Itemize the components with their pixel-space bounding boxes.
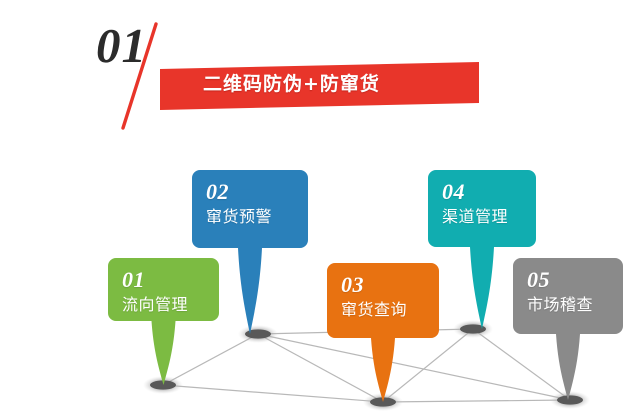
pin-card-05[interactable]: 05 市场稽查 (513, 258, 623, 334)
pin-card-02[interactable]: 02 窜货预警 (192, 170, 308, 248)
pin-shape-03 (327, 263, 439, 406)
pin-card-04[interactable]: 04 渠道管理 (428, 170, 536, 247)
pin-network-diagram: 01 流向管理 02 窜货预警 03 窜货查询 04 渠道管理 (0, 0, 643, 417)
pin-card-03[interactable]: 03 窜货查询 (327, 263, 439, 338)
pin-body-path (327, 263, 439, 402)
pin-shape-05 (513, 258, 623, 404)
pin-body-path (192, 170, 308, 334)
slide-canvas: 01 二维码防伪+防窜货 01 流向管理 (0, 0, 643, 417)
pin-shape-02 (192, 170, 308, 338)
pin-body-path (513, 258, 623, 400)
